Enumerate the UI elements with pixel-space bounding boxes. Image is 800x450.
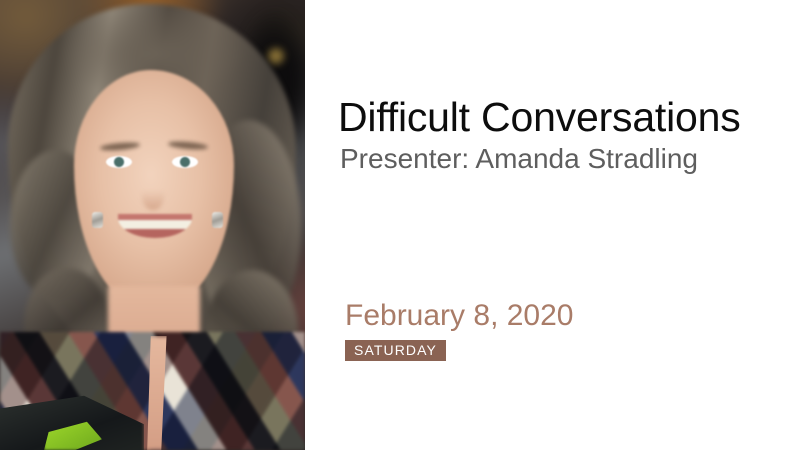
- date-block: February 8, 2020 SATURDAY: [345, 298, 573, 361]
- eye-right: [172, 156, 198, 168]
- presenter-subtitle: Presenter: Amanda Stradling: [340, 143, 698, 175]
- slide-content: Difficult Conversations Presenter: Amand…: [305, 0, 800, 450]
- background-figure-badge: [268, 48, 284, 64]
- weekday-badge: SATURDAY: [345, 340, 446, 361]
- earring-right: [212, 212, 223, 228]
- presentation-slide: Difficult Conversations Presenter: Amand…: [0, 0, 800, 450]
- nose: [142, 178, 164, 210]
- earring-left: [92, 212, 103, 228]
- presenter-photo: [0, 0, 305, 450]
- page-title: Difficult Conversations: [338, 96, 741, 139]
- event-date: February 8, 2020: [345, 298, 573, 334]
- eye-left: [106, 156, 132, 168]
